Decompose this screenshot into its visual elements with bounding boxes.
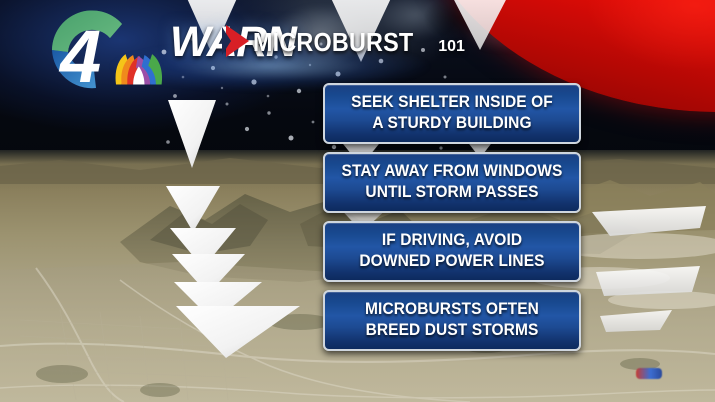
weather-graphic: 4 WARN MICROBURST 101 SEEK SHELTER INSID…	[0, 0, 715, 402]
tip-line-1: MICROBURSTS OFTEN	[340, 299, 564, 320]
tip-line-1: IF DRIVING, AVOID	[340, 230, 564, 251]
tip-box-2[interactable]: STAY AWAY FROM WINDOWS UNTIL STORM PASSE…	[323, 152, 581, 213]
tip-line-2: DOWNED POWER LINES	[340, 251, 564, 272]
tip-box-4[interactable]: MICROBURSTS OFTEN BREED DUST STORMS	[323, 290, 581, 351]
tip-box-1[interactable]: SEEK SHELTER INSIDE OF A STURDY BUILDING	[323, 83, 581, 144]
title-main: MICROBURST	[253, 27, 413, 58]
safety-tips-list: SEEK SHELTER INSIDE OF A STURDY BUILDING…	[323, 83, 585, 359]
tip-line-2: BREED DUST STORMS	[340, 320, 564, 341]
tip-line-2: UNTIL STORM PASSES	[340, 182, 564, 203]
tip-line-1: STAY AWAY FROM WINDOWS	[340, 161, 564, 182]
tip-line-2: A STURDY BUILDING	[340, 113, 564, 134]
tip-line-1: SEEK SHELTER INSIDE OF	[340, 92, 564, 113]
title-subtitle: 101	[438, 38, 465, 56]
svg-text:4: 4	[58, 15, 101, 94]
red-triangle-icon	[222, 22, 252, 60]
page-title: MICROBURST 101	[253, 27, 465, 58]
tip-box-3[interactable]: IF DRIVING, AVOID DOWNED POWER LINES	[323, 221, 581, 282]
corner-watermark	[636, 368, 662, 379]
